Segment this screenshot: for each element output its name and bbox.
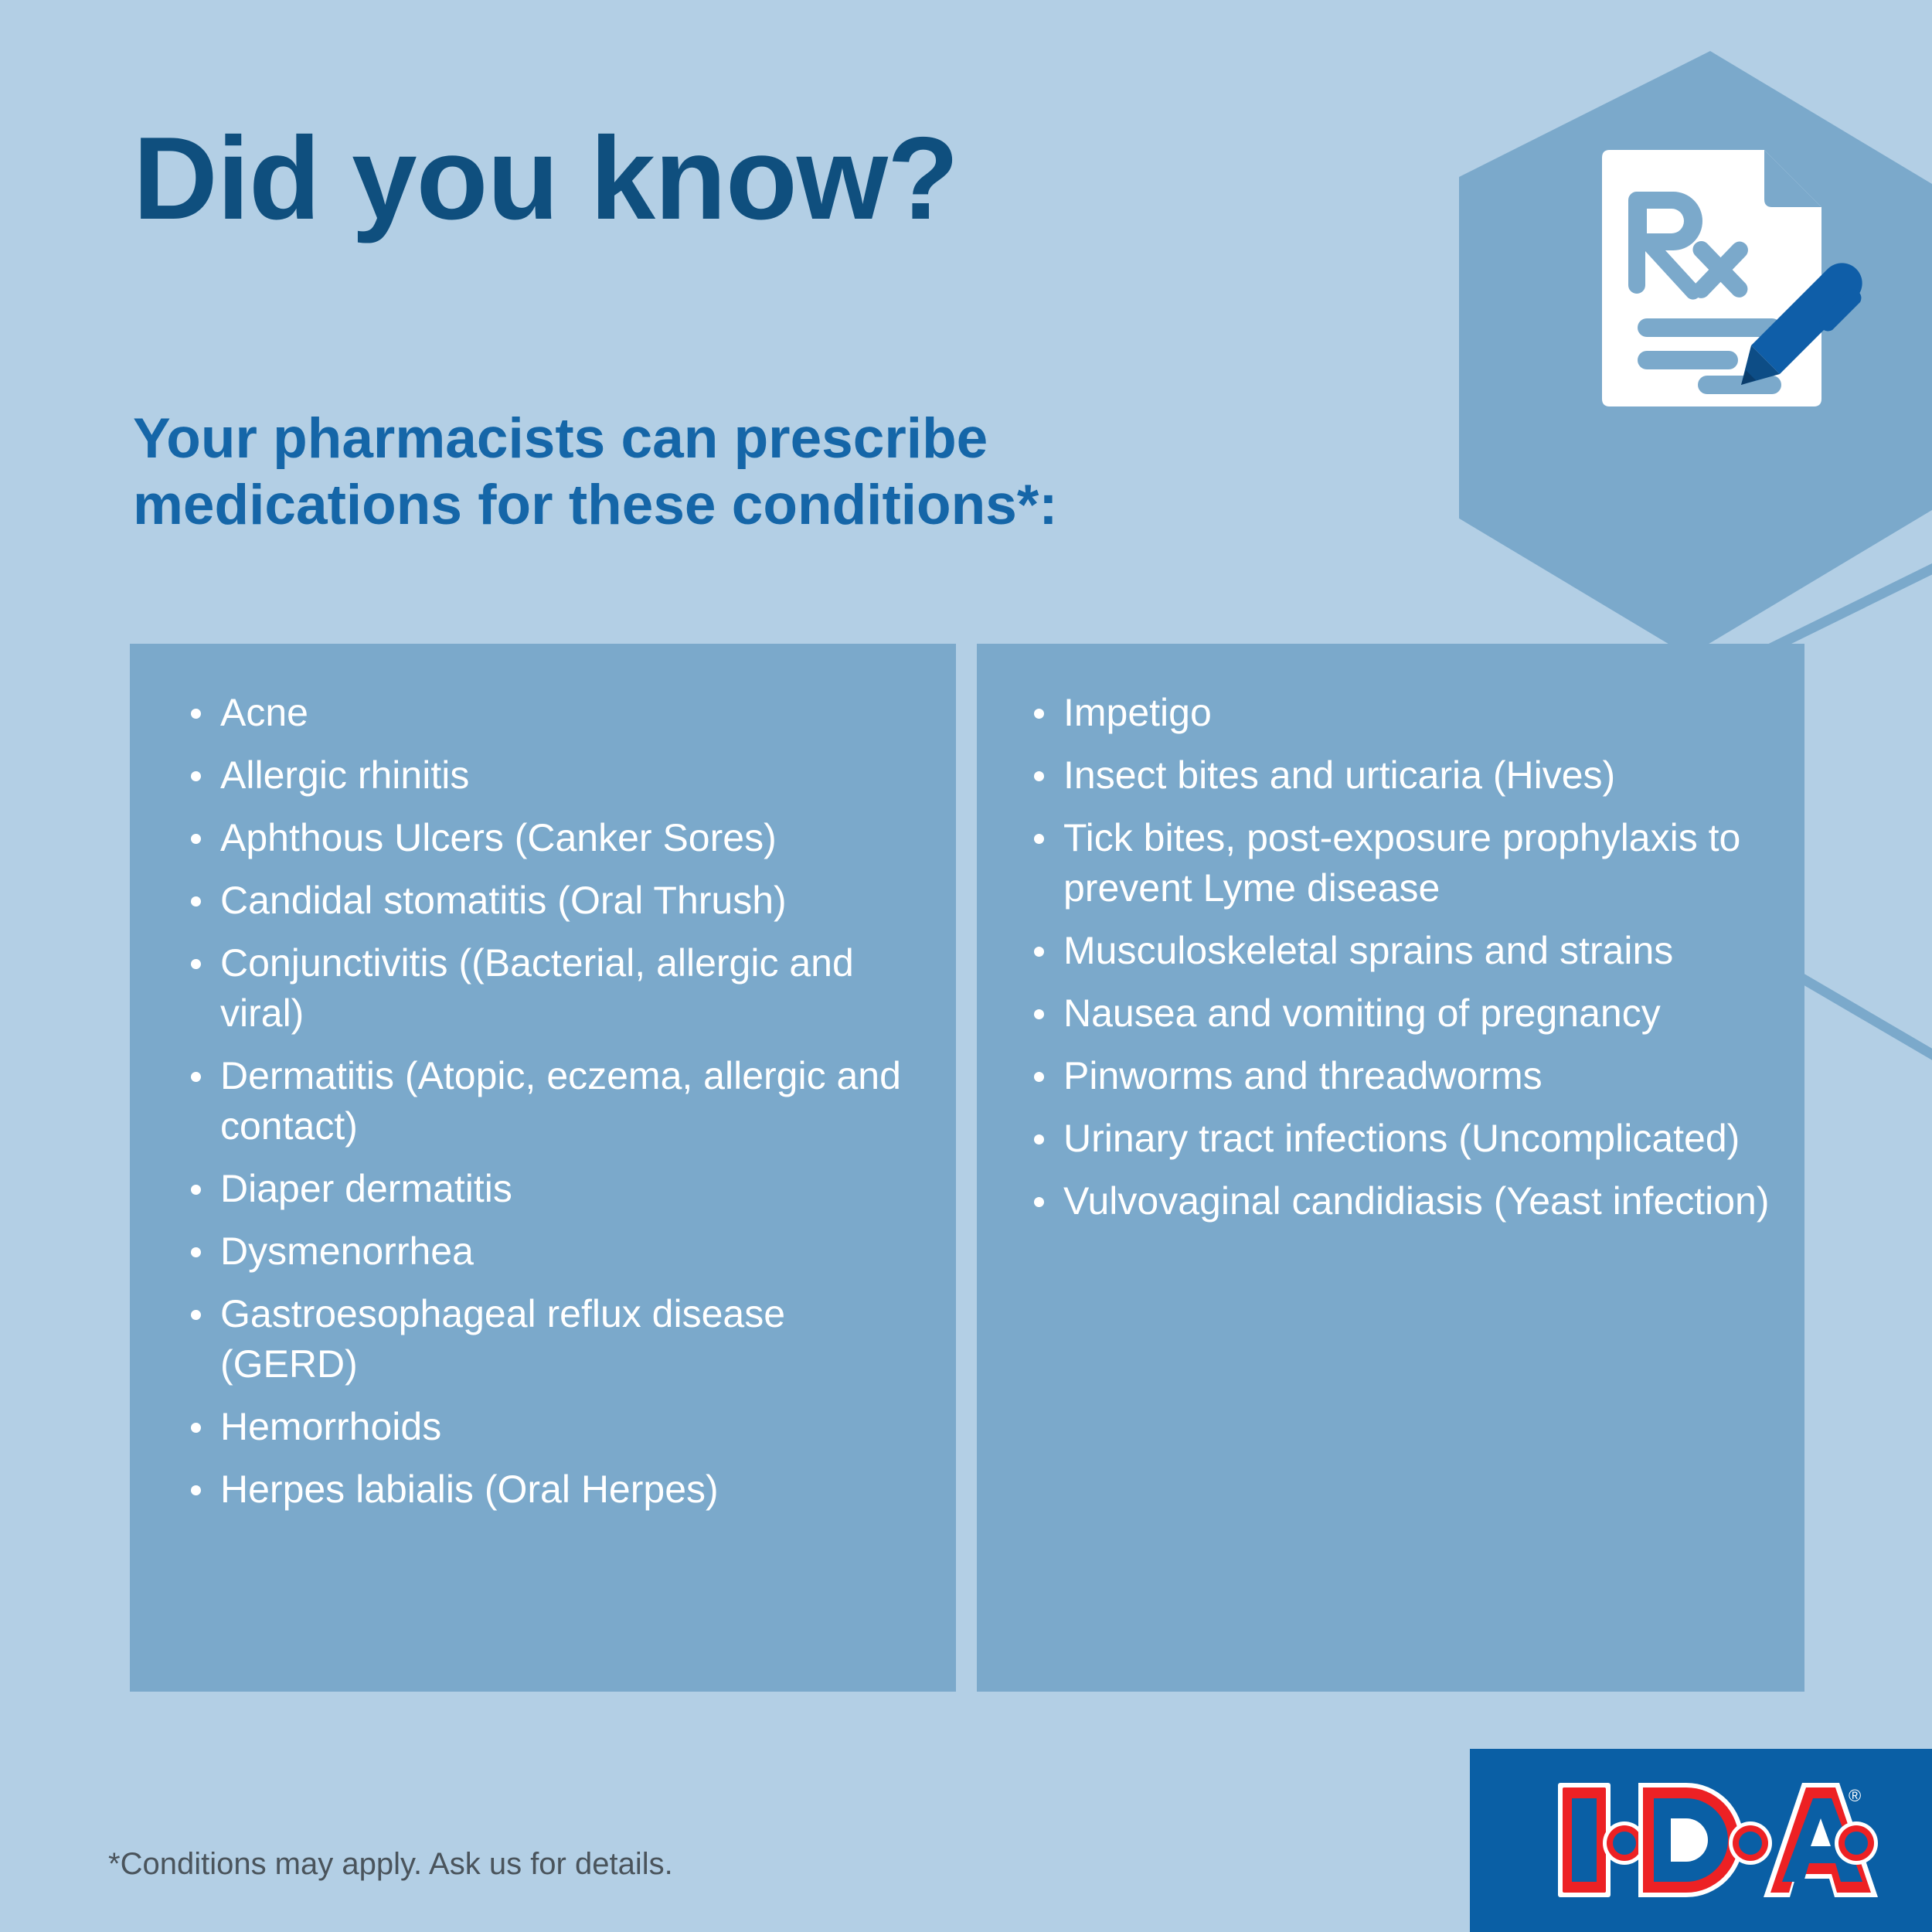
- page-title: Did you know?: [133, 120, 958, 237]
- list-item: Acne: [188, 688, 925, 738]
- list-item: Dermatitis (Atopic, eczema, allergic and…: [188, 1051, 925, 1151]
- footnote-disclaimer: *Conditions may apply. Ask us for detail…: [108, 1847, 673, 1882]
- list-item: Nausea and vomiting of pregnancy: [1031, 988, 1789, 1039]
- list-item: Diaper dermatitis: [188, 1164, 925, 1214]
- list-item: Vulvovaginal candidiasis (Yeast infectio…: [1031, 1176, 1789, 1226]
- ida-logo-block: ®: [1470, 1749, 1932, 1932]
- list-item: Insect bites and urticaria (Hives): [1031, 750, 1789, 801]
- conditions-list-right: Impetigo Insect bites and urticaria (Hiv…: [977, 644, 1804, 1226]
- list-item: Tick bites, post-exposure prophylaxis to…: [1031, 813, 1789, 913]
- list-item: Pinworms and threadworms: [1031, 1051, 1789, 1101]
- list-item: Candidal stomatitis (Oral Thrush): [188, 876, 925, 926]
- list-item: Herpes labialis (Oral Herpes): [188, 1464, 925, 1515]
- list-item: Allergic rhinitis: [188, 750, 925, 801]
- list-item: Aphthous Ulcers (Canker Sores): [188, 813, 925, 863]
- infographic-canvas: Did you know? Your pharmacists can presc…: [0, 0, 1932, 1932]
- registered-mark: ®: [1849, 1786, 1861, 1805]
- list-item: Urinary tract infections (Uncomplicated): [1031, 1114, 1789, 1164]
- rx-prescription-icon: [1596, 147, 1866, 433]
- subheading-line-1: Your pharmacists can prescribe: [133, 406, 1292, 472]
- subheading: Your pharmacists can prescribe medicatio…: [133, 406, 1292, 539]
- ida-logo: ®: [1553, 1778, 1878, 1902]
- list-item: Dysmenorrhea: [188, 1226, 925, 1277]
- list-item: Impetigo: [1031, 688, 1789, 738]
- subheading-line-2: medications for these conditions*:: [133, 472, 1292, 539]
- list-item: Hemorrhoids: [188, 1402, 925, 1452]
- list-item: Gastroesophageal reflux disease (GERD): [188, 1289, 925, 1389]
- list-item: Musculoskeletal sprains and strains: [1031, 926, 1789, 976]
- list-item: Conjunctivitis ((Bacterial, allergic and…: [188, 938, 925, 1039]
- conditions-panel-right: Impetigo Insect bites and urticaria (Hiv…: [977, 644, 1804, 1692]
- conditions-list-left: Acne Allergic rhinitis Aphthous Ulcers (…: [130, 644, 956, 1515]
- conditions-panel-left: Acne Allergic rhinitis Aphthous Ulcers (…: [130, 644, 956, 1692]
